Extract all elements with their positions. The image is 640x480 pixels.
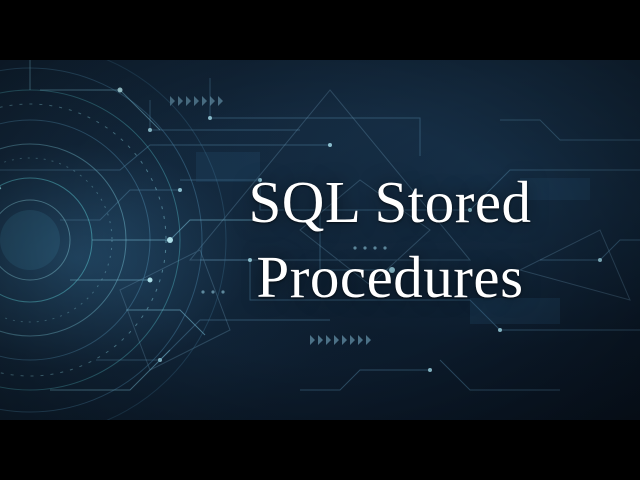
title-line-1: SQL Stored: [248, 172, 531, 233]
title-block: SQL Stored Procedures: [0, 60, 640, 420]
title-line-2: Procedures: [256, 247, 523, 308]
letterbox-bar-top: [0, 0, 640, 60]
letterbox-bar-bottom: [0, 420, 640, 480]
video-frame: SQL Stored Procedures: [0, 0, 640, 480]
